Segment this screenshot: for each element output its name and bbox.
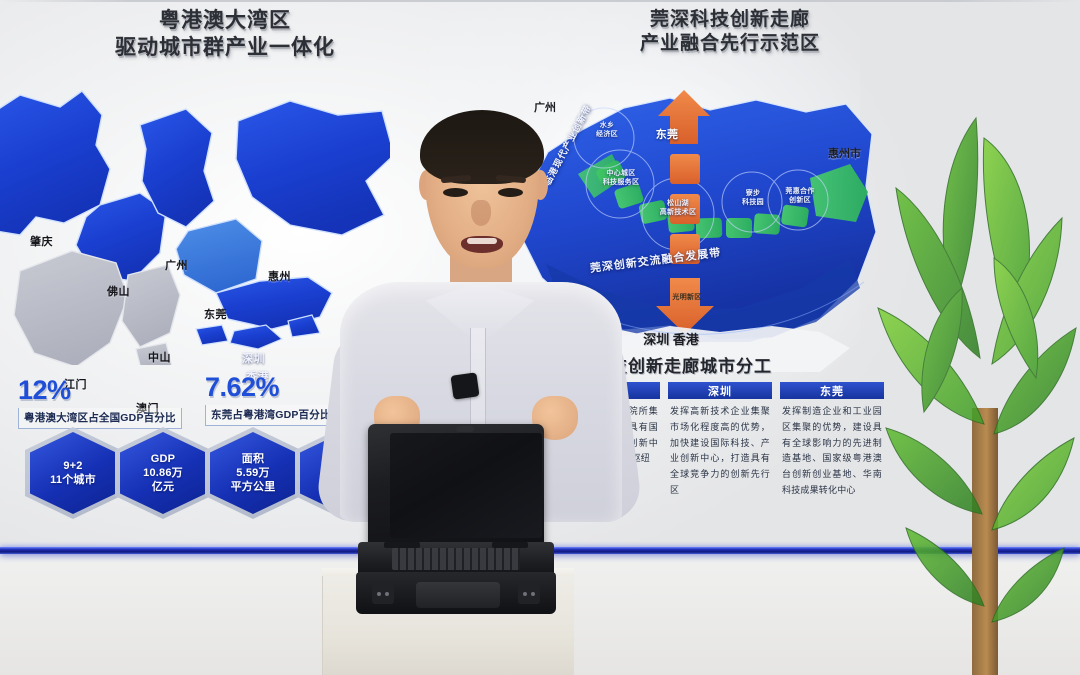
table-column-header: 东莞 [780,382,884,399]
stat-hexagon-text: GDP 10.86万 亿元 [143,452,183,495]
stat-percent-block: 7.62% 东莞占粤港湾GDP百分比 [205,372,337,426]
table-column-body: 发挥制造企业和工业园区集聚的优势，建设具有全球影响力的先进制造基地、国家级粤港澳… [780,404,884,499]
laptop-lid-hinge [456,426,474,432]
stat-percent-caption: 粤港澳大湾区占全国GDP百分比 [18,408,182,429]
wall-title-left: 粤港澳大湾区 驱动城市群产业一体化 [60,8,390,62]
plant-svg [876,78,1080,675]
lapel-microphone [450,372,479,399]
table-column-header: 深圳 [668,382,772,399]
presenter-mouth [461,236,503,253]
presenter-nose [471,200,491,226]
map-city-label: 广州 [165,257,188,273]
presenter-eye-left [443,188,468,197]
map-city-label: 中山 [148,349,171,365]
map-city-label: 惠州 [268,268,291,284]
map-city-label: 肇庆 [30,233,53,249]
map-outer-label: 惠州市 [828,145,861,161]
stat-percent-value: 7.62% [205,372,337,403]
map-zone-label: 光明新区 [662,294,712,303]
map-city-label: 佛山 [107,283,130,299]
laptop-lid [368,424,544,548]
map-anchor-cities: 深圳 香港 [636,330,706,350]
presenter-hair [420,110,544,184]
table-column: 深圳 发挥高新技术企业集聚市场化程度高的优势，加快建设国际科技、产业创新中心，打… [668,382,772,499]
stat-percent-caption: 东莞占粤港湾GDP百分比 [205,405,337,426]
map-city-label: 东莞 [204,306,227,322]
rugged-laptop [358,424,554,608]
wall-title-right: 莞深科技创新走廊 产业融合先行示范区 [580,8,880,57]
stat-percent-block: 12% 粤港澳大湾区占全国GDP百分比 [18,375,182,429]
decorative-plant [876,78,1080,675]
laptop-carry-handle[interactable] [416,582,500,608]
stat-hexagon-text: 9+2 11个城市 [50,459,96,488]
presenter-eye-right [498,188,523,197]
map-zone-label: 寮步 科技园 [730,190,776,208]
laptop-screen[interactable] [390,433,542,538]
laptop-keyboard[interactable] [392,548,520,570]
wall-seam-top [0,0,1080,2]
map-zone-label: 莞惠合作 创新区 [774,188,826,206]
map-city-label: 深圳 [242,350,265,366]
laptop-latch-left[interactable] [372,584,394,604]
stat-percent-value: 12% [18,375,182,406]
stat-hexagon-text: 面积 5.59万 平方公里 [231,452,276,495]
screenshot-root: 粤港澳大湾区 驱动城市群产业一体化 莞深科技创新走廊 产业融合先行示范区 [0,0,1080,675]
table-column: 东莞 发挥制造企业和工业园区集聚的优势，建设具有全球影响力的先进制造基地、国家级… [780,382,884,499]
table-column-body: 发挥高新技术企业集聚市场化程度高的优势，加快建设国际科技、产业创新中心，打造具有… [668,404,772,499]
laptop-latch-right[interactable] [518,584,540,604]
map-city-label-dongguan: 东莞 [645,129,689,143]
map-zone-label: 松山湖 高新技术区 [650,200,706,218]
